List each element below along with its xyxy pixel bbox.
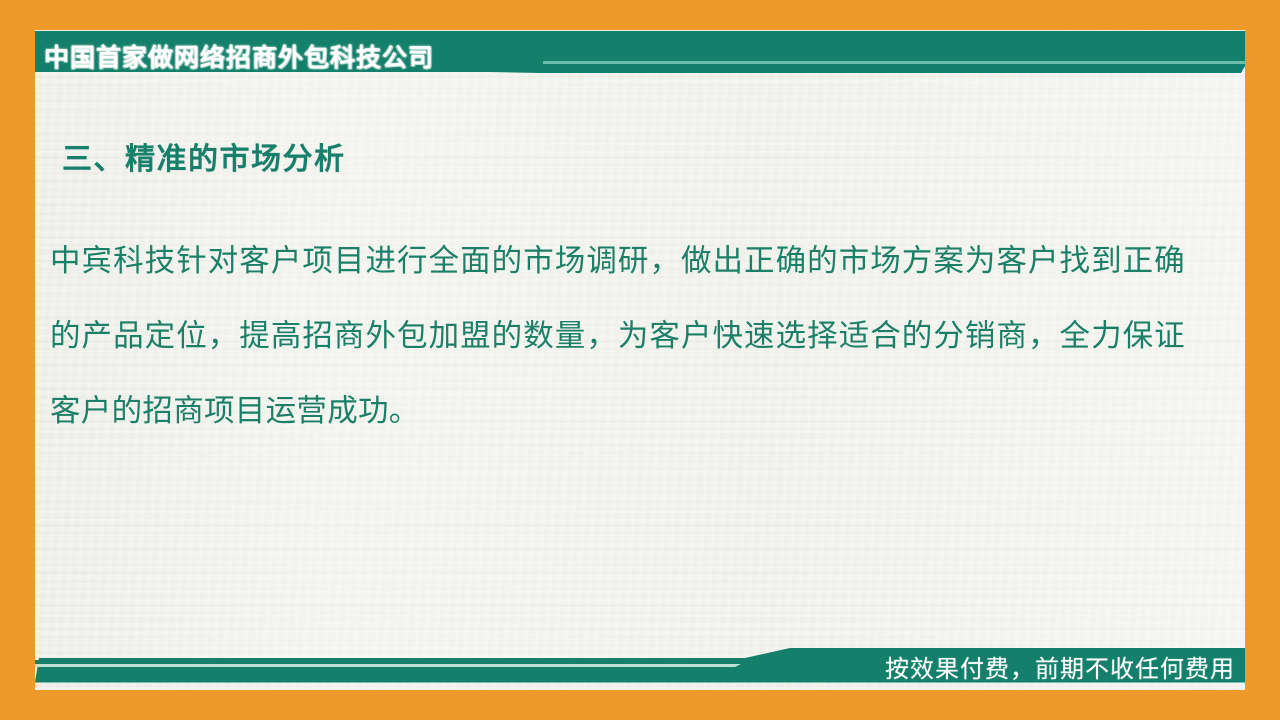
body-paragraph: 中宾科技针对客户项目进行全面的市场调研，做出正确的市场方案为客户找到正确的产品定… (50, 224, 1185, 449)
slide-canvas: 中国首家做网络招商外包科技公司 三、精准的市场分析 中宾科技针对客户项目进行全面… (0, 0, 1280, 720)
header-ribbon-hairline (543, 61, 1245, 64)
header-banner-text: 中国首家做网络招商外包科技公司 (44, 38, 434, 74)
page-title: 三、精准的市场分析 (62, 134, 346, 178)
header-ribbon-lower (540, 64, 1242, 73)
footer-tagline: 按效果付费，前期不收任何费用 (885, 649, 1235, 684)
footer-ribbon-hairline (35, 664, 741, 667)
